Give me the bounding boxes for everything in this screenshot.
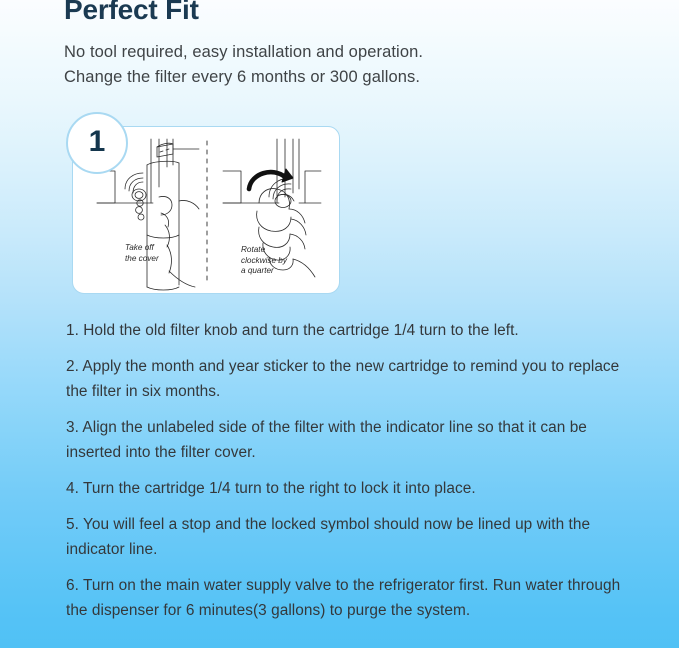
illustration-caption-left: Take off the cover <box>125 243 159 264</box>
list-item: 6. Turn on the main water supply valve t… <box>66 573 628 623</box>
installation-illustration: Take off the cover Rotate clockwise by a… <box>66 112 348 302</box>
illustration-caption-right: Rotate clockwise by a quarter <box>241 245 287 277</box>
step-number-label: 1 <box>89 127 106 159</box>
list-item: 3. Align the unlabeled side of the filte… <box>66 415 628 465</box>
product-info-page: Perfect Fit No tool required, easy insta… <box>0 0 679 648</box>
list-item: 4. Turn the cartridge 1/4 turn to the ri… <box>66 476 628 501</box>
list-item: 1. Hold the old filter knob and turn the… <box>66 318 628 343</box>
instruction-list: 1. Hold the old filter knob and turn the… <box>66 318 628 623</box>
page-title: Perfect Fit <box>64 0 199 26</box>
step-number-badge: 1 <box>66 112 128 174</box>
list-item: 2. Apply the month and year sticker to t… <box>66 354 628 404</box>
subtitle-line-2: Change the filter every 6 months or 300 … <box>64 68 420 87</box>
list-item: 5. You will feel a stop and the locked s… <box>66 512 628 562</box>
subtitle-line-1: No tool required, easy installation and … <box>64 43 423 62</box>
